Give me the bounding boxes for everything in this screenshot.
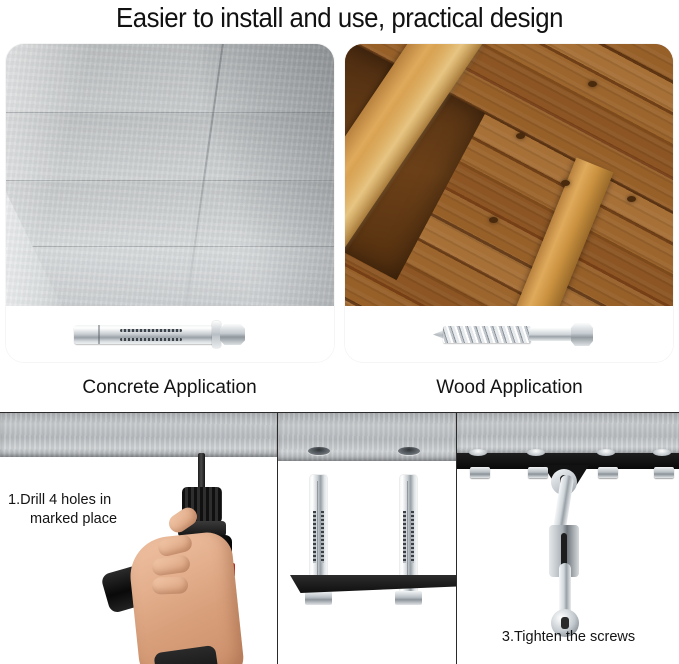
page-title: Easier to install and use, practical des…: [27, 0, 652, 38]
sleeve-anchor-bolt-icon: [74, 320, 264, 348]
concrete-fastener-strip: [6, 306, 334, 362]
bolt-cap-icon: [653, 449, 671, 456]
drilled-hole-icon: [398, 447, 420, 455]
step-1-panel: 1.Drill 4 holes in marked place: [0, 413, 277, 664]
step-3-text: 3.Tighten the screws: [457, 628, 679, 647]
installation-steps: 1.Drill 4 holes in marked place 2.Put th…: [0, 412, 679, 664]
concrete-ceiling-strip: [0, 413, 277, 457]
concrete-ceiling-strip-mounted: [457, 413, 679, 455]
wood-application-card: [345, 44, 673, 362]
step-1-text: 1.Drill 4 holes in marked place: [8, 491, 178, 529]
wood-fastener-strip: [345, 306, 673, 362]
concrete-application-caption: Concrete Application: [0, 376, 339, 400]
wood-application-caption: Wood Application: [340, 376, 679, 400]
drill-bit-icon: [198, 453, 205, 491]
bolt-cap-icon: [597, 449, 615, 456]
wood-beam-ceiling-photo: [345, 44, 673, 306]
step-3-line-1: 3.Tighten the screws: [502, 629, 635, 645]
base-plate: [290, 575, 457, 593]
lag-screw-icon: [433, 318, 593, 350]
concrete-ceiling-strip-drilled: [278, 413, 457, 461]
cordless-drill-illustration: [150, 453, 277, 664]
bolt-head-icon: [470, 467, 490, 478]
bolt-cap-icon: [527, 449, 545, 456]
step-1-line-2: marked place: [8, 510, 178, 529]
concrete-application-card: [6, 44, 334, 362]
step-1-line-1: 1.Drill 4 holes in: [8, 492, 111, 508]
drilled-hole-icon: [308, 447, 330, 455]
concrete-ceiling-photo: [6, 44, 334, 306]
step-2-panel: 2.Put the blast bolt into the base, and …: [277, 413, 457, 664]
bolt-head-icon: [598, 467, 618, 478]
step-3-panel: 3.Tighten the screws: [456, 413, 679, 664]
bolt-cap-icon: [469, 449, 487, 456]
bolt-head-icon: [654, 467, 674, 478]
application-cards: [0, 44, 679, 374]
bolt-head-icon: [528, 467, 548, 478]
